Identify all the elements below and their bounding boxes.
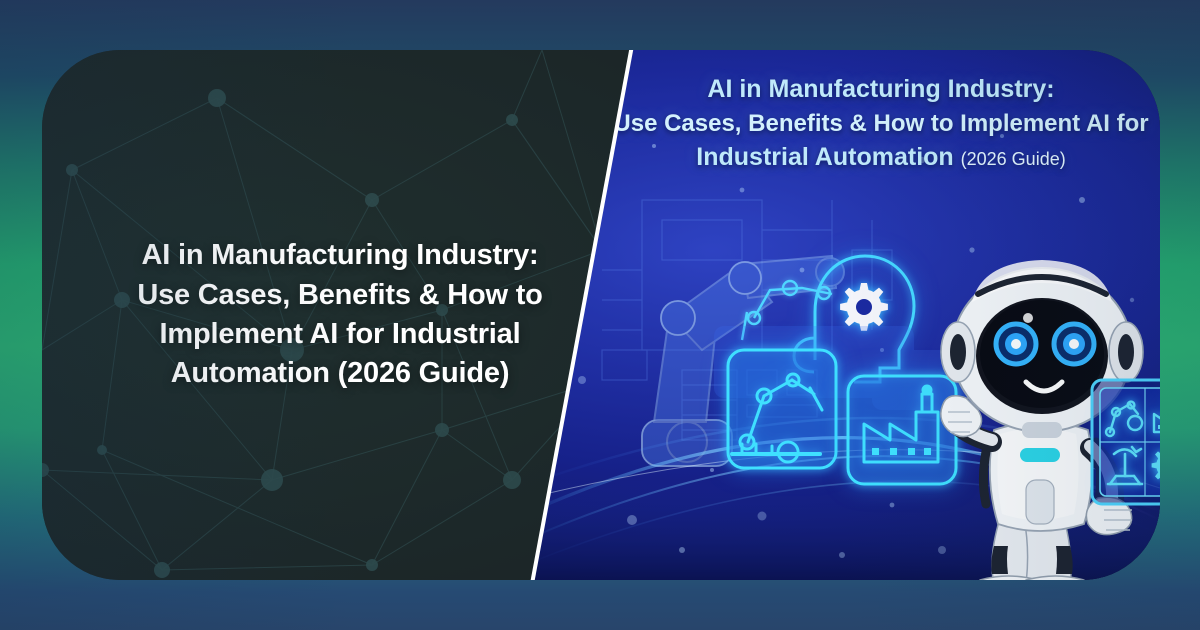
right-title-suffix: (2026 Guide) bbox=[961, 149, 1066, 169]
left-title-block: AI in Manufacturing Industry: Use Cases,… bbox=[42, 50, 602, 580]
right-title-line-3: Industrial Automation (2026 Guide) bbox=[610, 140, 1152, 175]
left-page-title: AI in Manufacturing Industry: Use Cases,… bbox=[137, 236, 542, 394]
screenshot-stage: AI in Manufacturing Industry: Use Cases,… bbox=[0, 0, 1200, 630]
left-title-line-1: AI in Manufacturing Industry: bbox=[137, 236, 542, 275]
left-title-line-3: Implement AI for Industrial bbox=[137, 315, 542, 354]
factory-hud-card bbox=[848, 376, 956, 484]
left-title-line-2: Use Cases, Benefits & How to bbox=[137, 276, 542, 315]
robot-tablet bbox=[1092, 380, 1160, 504]
right-title-line-1: AI in Manufacturing Industry: bbox=[610, 72, 1152, 107]
right-title-line-2: Use Cases, Benefits & How to Implement A… bbox=[610, 107, 1152, 140]
hero-card: AI in Manufacturing Industry: Use Cases,… bbox=[42, 50, 1160, 580]
right-title-main: Industrial Automation bbox=[696, 143, 953, 171]
gear-icon bbox=[840, 283, 888, 331]
left-title-line-4: Automation (2026 Guide) bbox=[137, 354, 542, 393]
robotic-arm-hud-card bbox=[728, 350, 836, 468]
right-title-block: AI in Manufacturing Industry: Use Cases,… bbox=[602, 72, 1160, 174]
